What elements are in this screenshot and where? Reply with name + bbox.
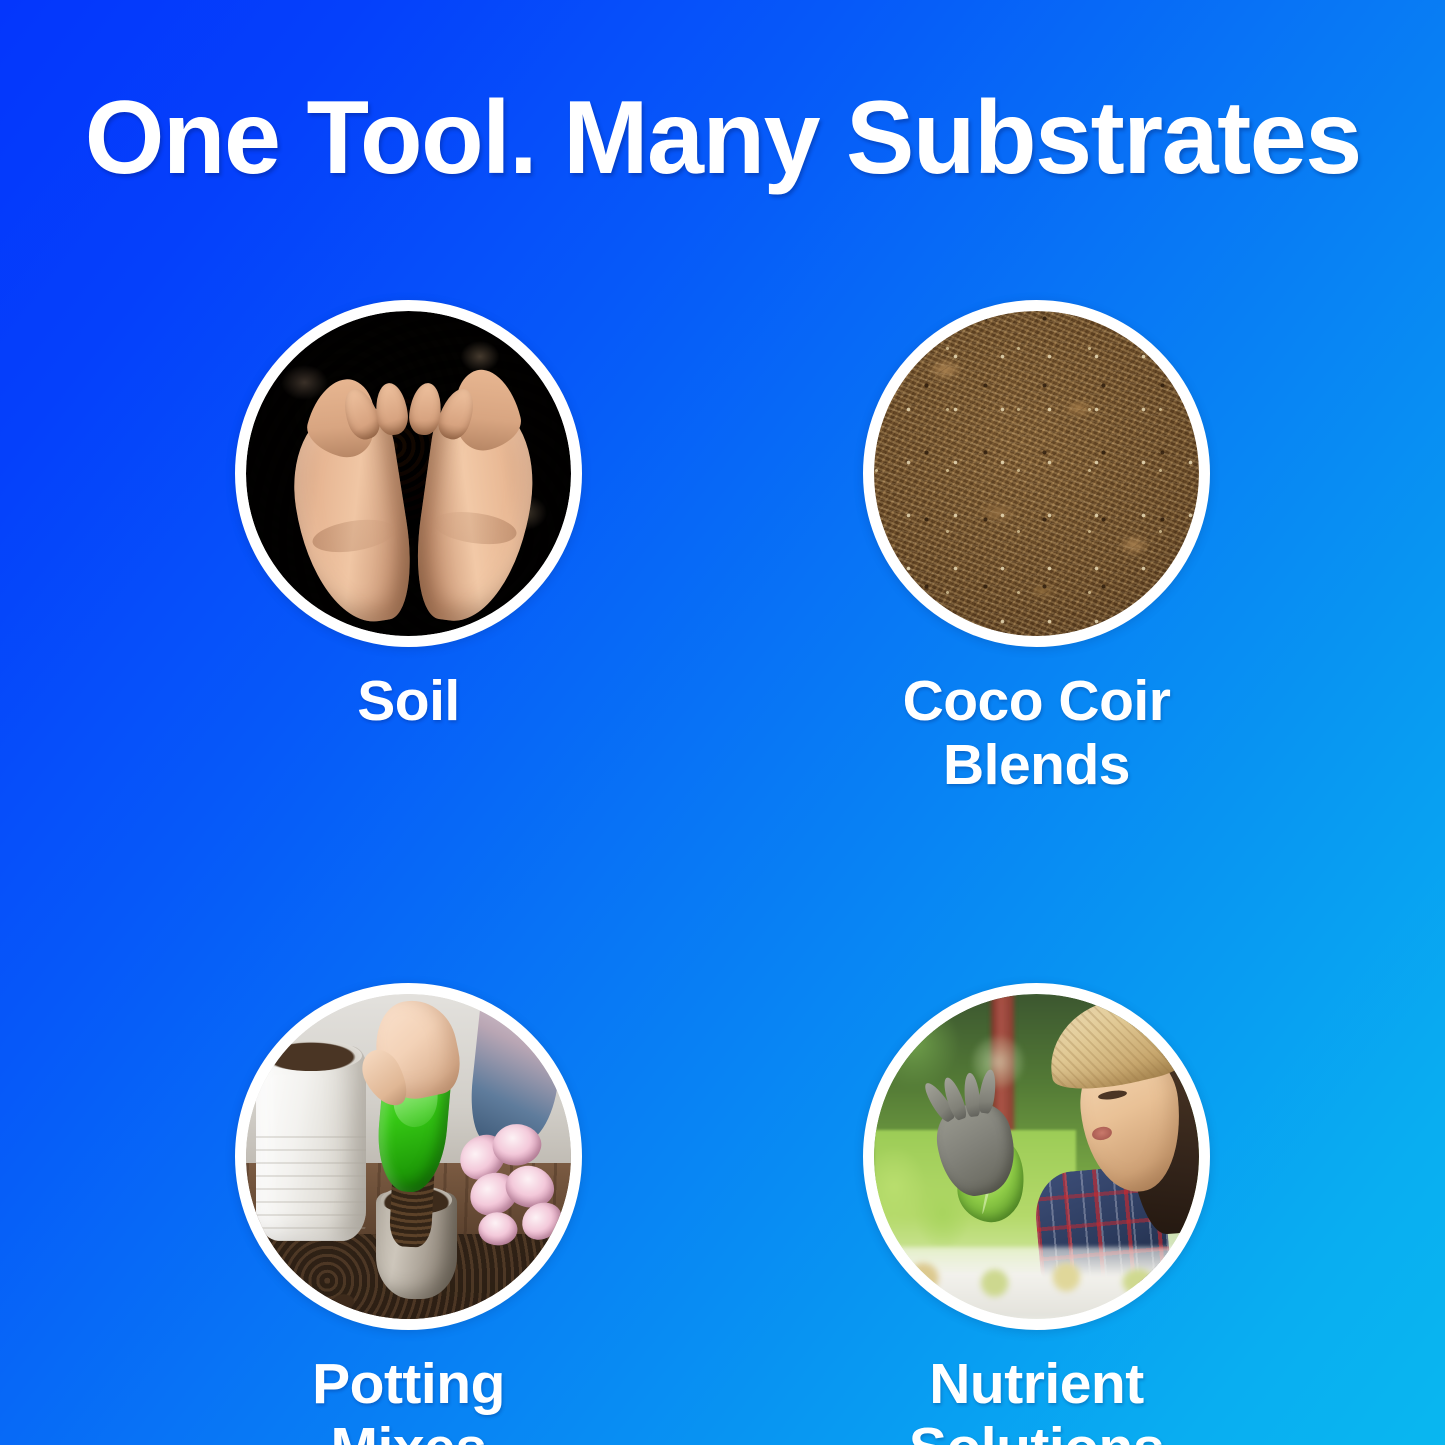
substrate-label-line: Potting [312, 1352, 505, 1416]
substrate-row-2: Potting Mixes [0, 983, 1445, 1445]
hydroponic-gardener-image [874, 994, 1199, 1319]
substrate-label-potting-mixes: Potting Mixes [312, 1352, 505, 1445]
substrate-infographic-banner: One Tool. Many Substrates Soil [0, 0, 1445, 1445]
soil-photo-ring [235, 300, 582, 647]
hydroponic-tray-shape [874, 1247, 1199, 1319]
white-planter-shape [256, 1046, 367, 1241]
substrate-card-potting-mixes: Potting Mixes [224, 983, 594, 1445]
substrate-label-line: Nutrient [909, 1352, 1164, 1416]
substrate-label-line: Mixes [312, 1416, 505, 1445]
coco-coir-texture-image [874, 311, 1199, 636]
substrate-label-soil: Soil [357, 669, 460, 733]
pink-foliage-plant-shape [454, 1124, 568, 1248]
substrate-label-nutrient-solutions: Nutrient Solutions [909, 1352, 1164, 1445]
substrate-label-line: Solutions [909, 1416, 1164, 1445]
potting-mix-photo-ring [235, 983, 582, 1330]
substrate-grid: Soil Coco Coir Blends [0, 300, 1445, 1445]
substrate-card-nutrient-solutions: Nutrient Solutions [852, 983, 1222, 1445]
substrate-label-line: Blends [903, 733, 1171, 797]
hands-holding-soil-image [246, 311, 571, 636]
coco-coir-photo-ring [863, 300, 1210, 647]
coir-speck-overlay [874, 311, 1199, 636]
headline-container: One Tool. Many Substrates [0, 86, 1445, 190]
nutrient-solutions-photo-ring [863, 983, 1210, 1330]
fingertips-group [344, 383, 481, 435]
substrate-label-line: Soil [357, 669, 460, 733]
substrate-card-soil: Soil [224, 300, 594, 798]
substrate-label-coco-coir-blends: Coco Coir Blends [903, 669, 1171, 798]
page-title: One Tool. Many Substrates [84, 86, 1360, 190]
substrate-row-1: Soil Coco Coir Blends [0, 300, 1445, 798]
bokeh-highlight-shape [972, 1036, 1024, 1088]
substrate-card-coco-coir-blends: Coco Coir Blends [852, 300, 1222, 798]
potting-mix-scooping-image [246, 994, 571, 1319]
substrate-label-line: Coco Coir [903, 669, 1171, 733]
